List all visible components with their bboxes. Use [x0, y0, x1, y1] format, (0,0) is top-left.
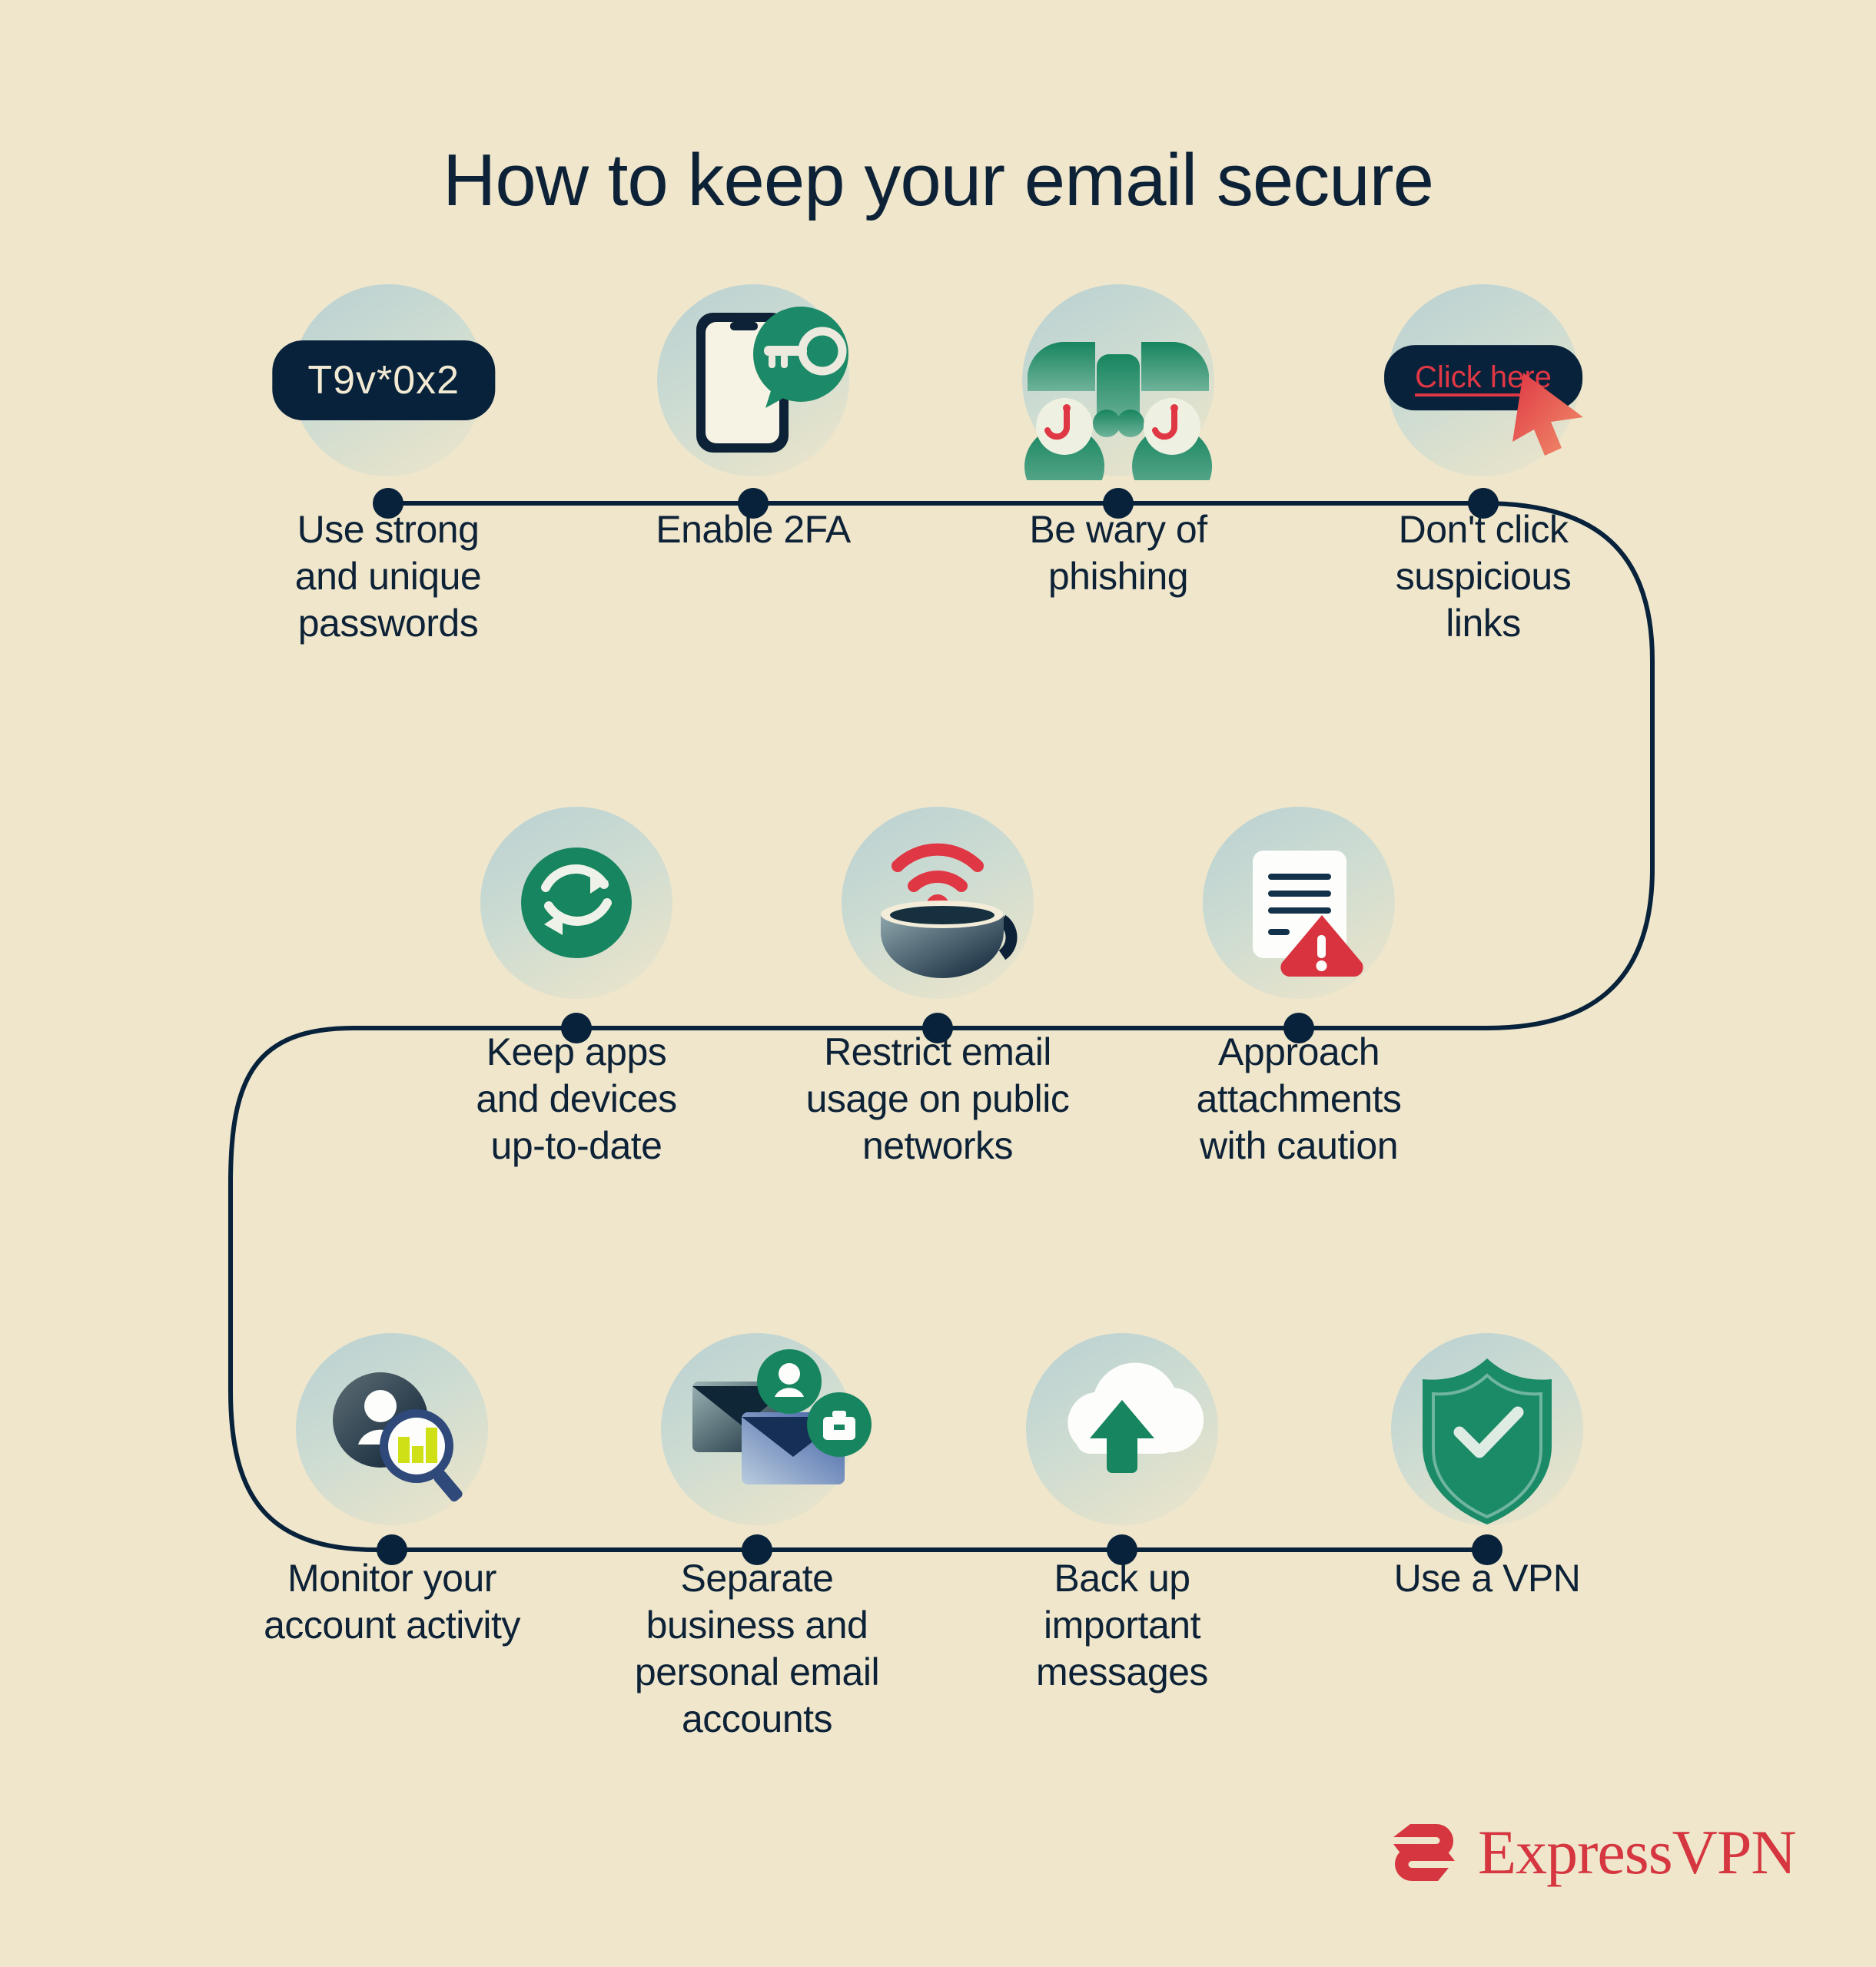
step-dont-click-suspicious-links[interactable]: Click here Don't clicksuspiciouslinks [1314, 280, 1652, 647]
two-envelopes-badges-icon [588, 1329, 926, 1529]
click-here-pill-icon: Click here [1384, 345, 1582, 410]
phone-key-bubble-icon [584, 280, 922, 480]
password-pill-icon: T9v*0x2 [272, 340, 495, 420]
binoculars-fishhook-icon [949, 280, 1287, 480]
expressvpn-logo[interactable]: ExpressVPN [1387, 1821, 1796, 1884]
step-use-strong-passwords[interactable]: T9v*0x2 Use strongand uniquepasswords [219, 280, 557, 647]
step-label: Use a VPN [1318, 1555, 1656, 1602]
page-title: How to keep your email secure [0, 140, 1876, 221]
step-icon-area [769, 803, 1107, 1003]
step-be-wary-of-phishing[interactable]: Be wary ofphishing [949, 280, 1287, 600]
step-label: Don't clicksuspiciouslinks [1314, 506, 1652, 647]
step-label: Restrict emailusage on publicnetworks [769, 1029, 1107, 1169]
step-icon-area [1318, 1329, 1656, 1529]
shield-check-icon [1318, 1329, 1656, 1529]
step-icon-area: T9v*0x2 [219, 280, 557, 480]
step-label: Approachattachmentswith caution [1130, 1029, 1468, 1169]
step-restrict-public-networks[interactable]: Restrict emailusage on publicnetworks [769, 803, 1107, 1169]
step-icon-area [588, 1329, 926, 1529]
expressvpn-wordmark: ExpressVPN [1478, 1821, 1796, 1884]
step-icon-area [407, 803, 745, 1003]
password-pill-text: T9v*0x2 [307, 358, 460, 403]
step-label: Be wary ofphishing [949, 506, 1287, 600]
step-icon-area [953, 1329, 1291, 1529]
refresh-sync-icon [407, 803, 745, 1003]
cloud-upload-icon [953, 1329, 1291, 1529]
step-label: Back upimportantmessages [953, 1555, 1291, 1696]
step-label: Keep appsand devicesup-to-date [407, 1029, 745, 1169]
expressvpn-mark-icon [1387, 1823, 1461, 1882]
step-back-up-messages[interactable]: Back upimportantmessages [953, 1329, 1291, 1696]
step-keep-apps-updated[interactable]: Keep appsand devicesup-to-date [407, 803, 745, 1169]
infographic-root: How to keep your email secure T [0, 0, 1876, 1967]
step-label: Separatebusiness andpersonal emailaccoun… [588, 1555, 926, 1743]
step-icon-area [584, 280, 922, 480]
step-icon-area [223, 1329, 561, 1529]
step-icon-area: Click here [1314, 280, 1652, 480]
click-here-text: Click here [1415, 360, 1552, 394]
step-label: Enable 2FA [584, 506, 922, 553]
step-monitor-account-activity[interactable]: Monitor youraccount activity [223, 1329, 561, 1649]
step-icon-area [949, 280, 1287, 480]
step-label: Monitor youraccount activity [223, 1555, 561, 1649]
user-magnifier-chart-icon [223, 1329, 561, 1529]
step-approach-attachments[interactable]: Approachattachmentswith caution [1130, 803, 1468, 1169]
coffee-cup-wifi-icon [769, 803, 1107, 1003]
document-warning-icon [1130, 803, 1468, 1003]
step-label: Use strongand uniquepasswords [219, 506, 557, 647]
step-separate-email-accounts[interactable]: Separatebusiness andpersonal emailaccoun… [588, 1329, 926, 1743]
step-use-a-vpn[interactable]: Use a VPN [1318, 1329, 1656, 1602]
step-icon-area [1130, 803, 1468, 1003]
step-enable-2fa[interactable]: Enable 2FA [584, 280, 922, 553]
